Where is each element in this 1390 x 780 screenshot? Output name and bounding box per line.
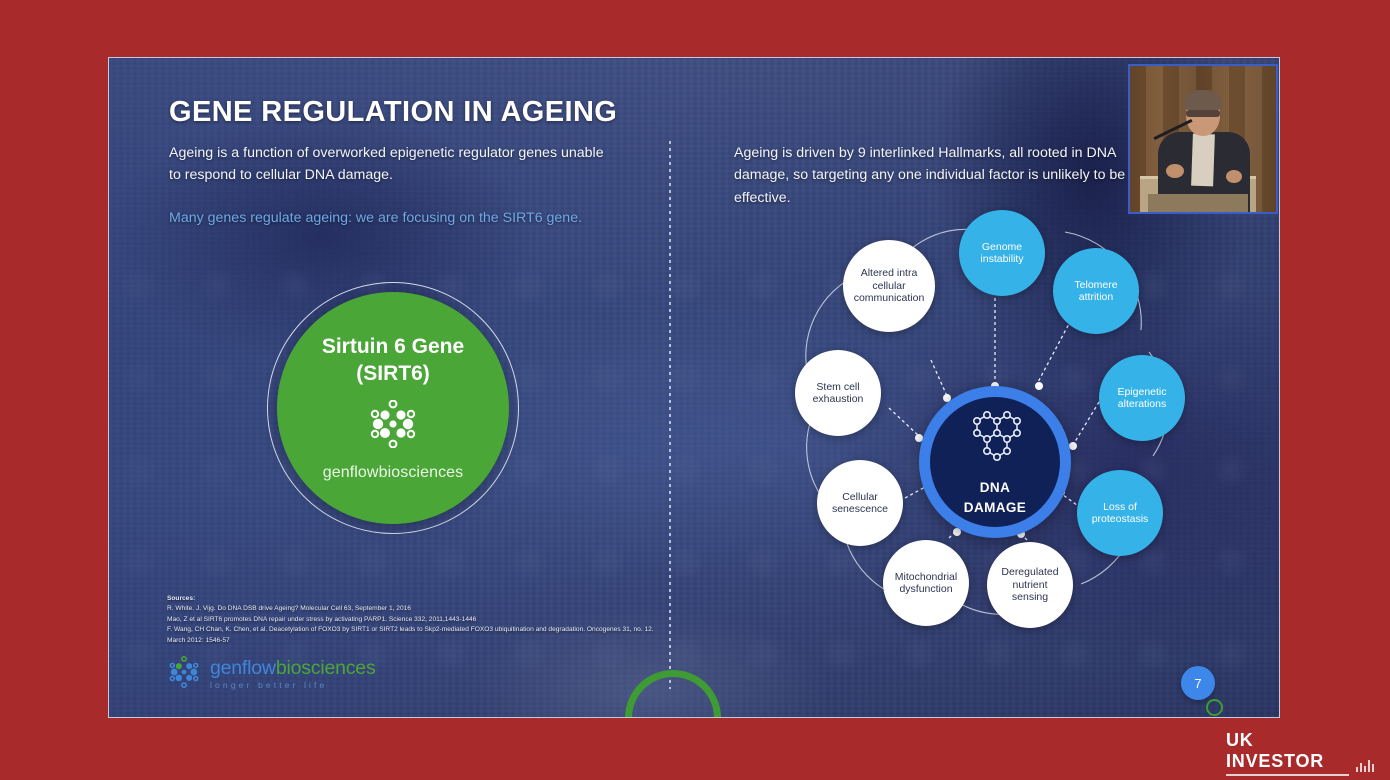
hallmark-node: Mitochondrial dysfunction [883,540,969,626]
right-column-body-text: Ageing is driven by 9 interlinked Hallma… [734,142,1164,209]
genflow-dots-icon-footer [167,656,201,693]
hallmark-node: Deregulated nutrient sensing [987,542,1073,628]
sirt6-subtitle: genflowbiosciences [323,464,464,482]
left-column-body-text: Ageing is a function of overworked epige… [169,142,609,187]
sirt6-title-line2: (SIRT6) [322,361,464,387]
screen: GENE REGULATION IN AGEING Ageing is a fu… [0,0,1390,780]
hallmark-node: Genome instability [959,210,1045,296]
hallmark-node-label: Deregulated nutrient sensing [987,566,1073,603]
speaker-hand-right [1226,170,1242,183]
sirt6-title-line1: Sirtuin 6 Gene [322,334,464,360]
speaker-podium-base [1148,194,1248,214]
sources-list: R. White. J. Vijg. Do DNA DSB drive Agei… [167,604,667,646]
hallmark-node: Epigenetic alterations [1099,355,1185,441]
hallmark-node-label: Altered intra cellular communication [843,267,935,304]
hallmark-node-label: Epigenetic alterations [1099,386,1185,411]
uk-investor-rule [1226,774,1349,776]
hallmark-node: Altered intra cellular communication [843,240,935,332]
decorative-green-ring-large [625,670,721,718]
dna-damage-line2: DAMAGE [964,498,1026,518]
left-column-highlight-text: Many genes regulate ageing: we are focus… [169,208,649,229]
hallmarks-diagram: DNA DAMAGE Genome instabilityTelomere at… [781,210,1221,680]
source-item: R. White. J. Vijg. Do DNA DSB drive Agei… [167,604,667,614]
hallmark-node-label: Stem cell exhaustion [795,381,881,406]
genflow-dots-icon [367,400,419,453]
hallmark-node-label: Mitochondrial dysfunction [883,571,969,596]
hallmark-node: Stem cell exhaustion [795,350,881,436]
presentation-slide: GENE REGULATION IN AGEING Ageing is a fu… [108,57,1280,718]
speaker-hair [1184,90,1222,110]
slide-page-number: 7 [1181,666,1215,700]
hallmark-node-label: Cellular senescence [817,491,903,516]
uk-investor-name: UK INVESTOR [1226,730,1352,772]
speaker-video-overlay[interactable] [1128,64,1278,214]
hallmark-node: Telomere attrition [1053,248,1139,334]
hallmark-node-label: Loss of proteostasis [1077,501,1163,526]
dna-damage-line1: DNA [964,478,1026,498]
source-item: Mao, Z et al SIRT6 promotes DNA repair u… [167,615,667,625]
hallmark-node-label: Telomere attrition [1053,279,1139,304]
decorative-green-ring-small [1206,699,1223,716]
genflow-footer-logo: genflowbiosciences longer better life [167,656,376,693]
dna-damage-label: DNA DAMAGE [964,478,1026,517]
uk-investor-magazine-logo: UK INVESTOR MAGAZINE [1226,730,1374,780]
sources-block: Sources: R. White. J. Vijg. Do DNA DSB d… [167,594,667,646]
speaker-glasses [1186,110,1220,117]
hallmark-node-label: Genome instability [959,241,1045,266]
column-divider [669,141,671,689]
speaker-hand-left [1166,164,1184,178]
genflow-wordmark-part2: biosciences [276,657,376,679]
sirt6-title: Sirtuin 6 Gene (SIRT6) [322,334,464,387]
genflow-wordmark-part1: genflow [210,657,276,679]
hallmark-node: Loss of proteostasis [1077,470,1163,556]
speaker-shirt [1191,134,1215,187]
molecule-icon [963,407,1027,474]
page-title: GENE REGULATION IN AGEING [169,96,617,129]
genflow-wordmark: genflowbiosciences [210,659,376,679]
bar-chart-icon [1356,758,1375,772]
sirt6-circle: Sirtuin 6 Gene (SIRT6) [277,292,509,524]
source-item: F. Wang, CH Chan, K. Chen, et al. Deacet… [167,625,667,646]
genflow-tagline: longer better life [210,681,376,690]
sources-heading: Sources: [167,594,667,604]
dna-damage-core: DNA DAMAGE [930,397,1060,527]
hallmark-node: Cellular senescence [817,460,903,546]
